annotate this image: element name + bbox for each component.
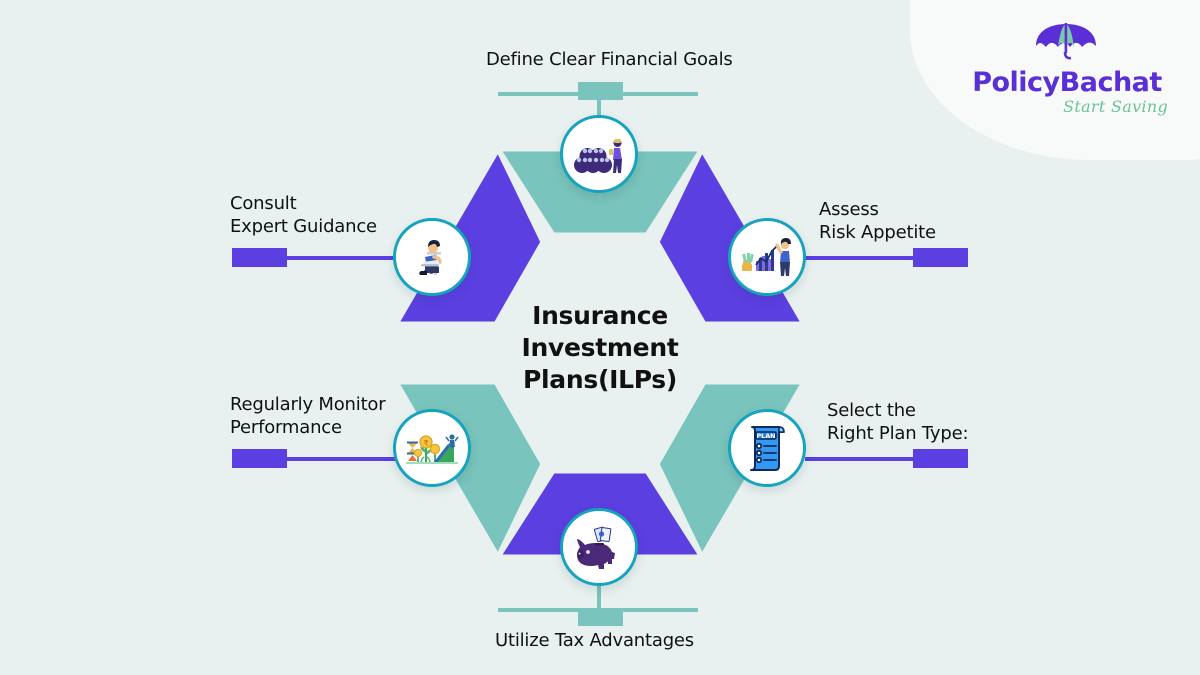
connector-top-right-cap — [913, 248, 968, 267]
node-assess-risk-appetite[interactable] — [728, 218, 806, 296]
center-title-line-3: Plans(ILPs) — [470, 364, 730, 396]
connector-bottom-stem — [597, 585, 601, 610]
brand-tagline: Start Saving — [962, 99, 1172, 115]
label-select-the-right-plan-type: Select the Right Plan Type: — [827, 399, 968, 445]
node-regularly-monitor-performance[interactable]: ₹ — [393, 409, 471, 487]
brand-name: PolicyBachat — [962, 69, 1172, 96]
label-consult-expert-guidance: Consult Expert Guidance — [230, 192, 377, 238]
center-title-line-1: Insurance — [470, 300, 730, 332]
advisor-laptop-icon — [408, 233, 456, 281]
connector-bottom-right-cap — [913, 449, 968, 468]
center-title-line-2: Investment — [470, 332, 730, 364]
growth-chart-analyst-icon — [740, 235, 794, 279]
label-assess-risk-appetite: Assess Risk Appetite — [819, 198, 936, 244]
connector-bottom-left-cap — [232, 449, 287, 468]
umbrella-icon — [962, 22, 1172, 67]
center-title: Insurance Investment Plans(ILPs) — [470, 300, 730, 395]
piggy-bank-icon — [574, 525, 624, 569]
node-consult-expert-guidance[interactable] — [393, 218, 471, 296]
label-define-clear-financial-goals: Define Clear Financial Goals — [486, 48, 733, 71]
label-regularly-monitor-performance: Regularly Monitor Performance — [230, 393, 385, 439]
connector-bottom-cap — [578, 608, 623, 626]
node-select-the-right-plan-type[interactable]: PLAN — [728, 409, 806, 487]
node-utilize-tax-advantages[interactable] — [560, 508, 638, 586]
money-plant-growth-icon: ₹ — [404, 427, 460, 469]
plan-document-icon: PLAN — [744, 423, 790, 473]
money-bags-investor-icon — [573, 132, 625, 176]
svg-text:PLAN: PLAN — [756, 432, 775, 440]
svg-text:₹: ₹ — [423, 439, 428, 448]
node-define-clear-financial-goals[interactable] — [560, 115, 638, 193]
connector-top-left-cap — [232, 248, 287, 267]
infographic-canvas: PolicyBachat Start Saving Insurance Inve… — [0, 0, 1200, 675]
label-utilize-tax-advantages: Utilize Tax Advantages — [495, 629, 694, 652]
brand-logo: PolicyBachat Start Saving — [962, 22, 1172, 115]
